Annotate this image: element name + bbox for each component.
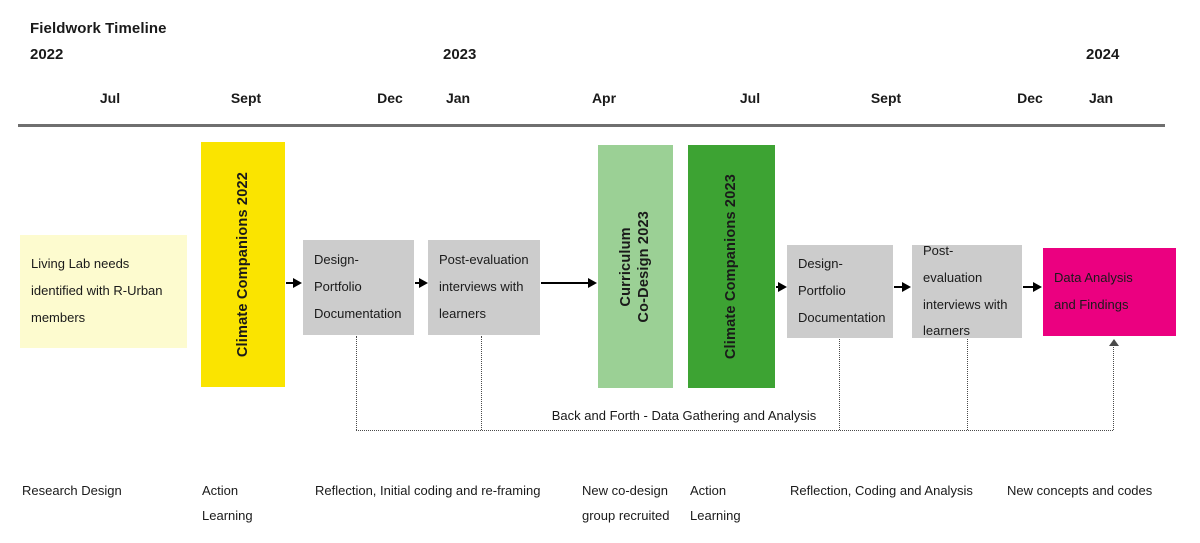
month-label-7-dec: Dec xyxy=(990,90,1070,106)
fieldwork-timeline-diagram: Fieldwork Timeline 202220232024 JulSeptD… xyxy=(0,0,1200,543)
arrow-post-2-to-data-line xyxy=(1023,286,1033,289)
box-post-evaluation-interviews-1-label: Post-evaluation interviews with learners xyxy=(439,247,529,328)
arrow-green-to-design-2-head xyxy=(778,282,787,292)
arrow-post-1-to-curriculum-head xyxy=(588,278,597,288)
dotted-arrow-to-data xyxy=(1113,347,1114,430)
month-label-3-jan: Jan xyxy=(418,90,498,106)
arrow-yellow-to-design-1-head xyxy=(293,278,302,288)
box-climate-companions-2022-label: Climate Companions 2022 xyxy=(234,172,252,357)
caption-new-co-design: New co-design group recruited xyxy=(582,478,669,529)
caption-reflection-1: Reflection, Initial coding and re-framin… xyxy=(315,478,540,503)
box-post-evaluation-interviews-2-label: Post-evaluation interviews with learners xyxy=(923,238,1011,346)
arrow-post-1-to-curriculum xyxy=(541,277,597,289)
arrow-green-to-design-2 xyxy=(776,281,787,293)
dotted-drop-post-2 xyxy=(967,339,968,430)
month-label-1-sept: Sept xyxy=(206,90,286,106)
caption-action-learning-2: Action Learning xyxy=(690,478,741,529)
caption-reflection-2: Reflection, Coding and Analysis xyxy=(790,478,973,503)
arrow-design-2-to-post-2 xyxy=(894,281,911,293)
arrow-design-2-to-post-2-line xyxy=(894,286,902,289)
caption-research-design: Research Design xyxy=(22,478,122,503)
month-label-4-apr: Apr xyxy=(564,90,644,106)
caption-new-concepts: New concepts and codes xyxy=(1007,478,1152,503)
box-living-lab-needs: Living Lab needs identified with R-Urban… xyxy=(20,235,187,348)
box-climate-companions-2022: Climate Companions 2022 xyxy=(201,142,285,387)
month-label-5-jul: Jul xyxy=(710,90,790,106)
arrow-post-1-to-curriculum-line xyxy=(541,282,588,285)
dotted-arrow-to-data-head xyxy=(1109,339,1119,346)
arrow-post-2-to-data xyxy=(1023,281,1042,293)
box-living-lab-needs-label: Living Lab needs identified with R-Urban… xyxy=(31,251,176,332)
box-data-analysis-and-findings-label: Data Analysis and Findings xyxy=(1054,265,1133,319)
arrow-yellow-to-design-1-line xyxy=(286,282,293,285)
timeline-axis-line xyxy=(18,124,1165,127)
box-design-portfolio-documentation-1-label: Design- Portfolio Documentation xyxy=(314,247,401,328)
month-label-6-sept: Sept xyxy=(846,90,926,106)
box-curriculum-co-design-2023-label: Curriculum Co-Design 2023 xyxy=(617,211,653,323)
dotted-baseline xyxy=(356,430,1113,431)
box-curriculum-co-design-2023: Curriculum Co-Design 2023 xyxy=(598,145,673,388)
box-post-evaluation-interviews-1: Post-evaluation interviews with learners xyxy=(428,240,540,335)
box-design-portfolio-documentation-2-label: Design- Portfolio Documentation xyxy=(798,251,885,332)
back-and-forth-label: Back and Forth - Data Gathering and Anal… xyxy=(434,408,934,423)
arrow-yellow-to-design-1 xyxy=(286,277,302,289)
year-label-2023: 2023 xyxy=(443,46,476,63)
box-climate-companions-2023-label: Climate Companions 2023 xyxy=(722,174,740,359)
box-design-portfolio-documentation-1: Design- Portfolio Documentation xyxy=(303,240,414,335)
month-label-0-jul: Jul xyxy=(70,90,150,106)
caption-action-learning-1: Action Learning xyxy=(202,478,253,529)
box-climate-companions-2023: Climate Companions 2023 xyxy=(688,145,775,388)
arrow-design-1-to-post-1 xyxy=(415,277,428,289)
dotted-drop-design-1 xyxy=(356,336,357,430)
arrow-post-2-to-data-head xyxy=(1033,282,1042,292)
box-data-analysis-and-findings: Data Analysis and Findings xyxy=(1043,248,1176,336)
box-post-evaluation-interviews-2: Post-evaluation interviews with learners xyxy=(912,245,1022,338)
arrow-design-2-to-post-2-head xyxy=(902,282,911,292)
page-title: Fieldwork Timeline xyxy=(30,20,167,37)
arrow-design-1-to-post-1-head xyxy=(419,278,428,288)
year-label-2024: 2024 xyxy=(1086,46,1119,63)
month-label-8-jan: Jan xyxy=(1061,90,1141,106)
box-design-portfolio-documentation-2: Design- Portfolio Documentation xyxy=(787,245,893,338)
year-label-2022: 2022 xyxy=(30,46,63,63)
